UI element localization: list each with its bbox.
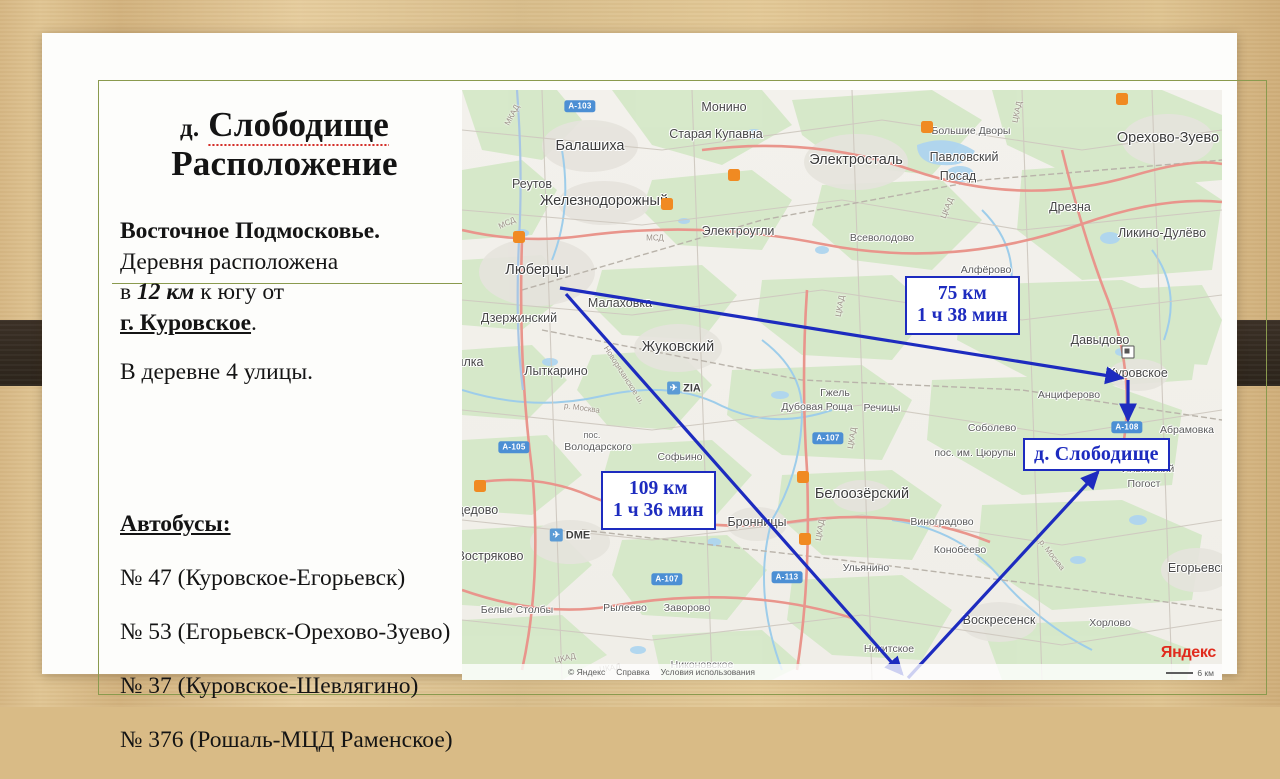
title-subject: Расположение [171,144,398,183]
callout-duration: 1 ч 36 мин [613,500,704,522]
paragraph-gap [120,338,455,357]
text-column: д. Слободище Расположение Восточное Подм… [112,93,457,693]
attrib-help-link[interactable]: Справка [616,667,649,677]
bus-routes-block: Автобусы: № 47 (Куровское-Егорьевск) № 5… [120,485,460,779]
body-text: Восточное Подмосковье. Деревня расположе… [120,216,455,388]
body-line-3-post: . [251,310,257,336]
callout-duration: 1 ч 38 мин [917,305,1008,327]
body-line-2: в 12 км к югу от [120,277,455,308]
callout-distance: 109 км [613,478,704,500]
body-line-3: г. Куровское. [120,308,455,339]
scale-bar-label: 6 км [1197,668,1214,678]
body-line-4: В деревне 4 улицы. [120,357,455,388]
bus-route-item: № 53 (Егорьевск-Орехово-Зуево) [120,617,460,648]
bus-route-item: № 37 (Куровское-Шевлягино) [120,671,460,702]
distance-emphasis: 12 км [137,279,194,305]
body-line-1: Деревня расположена [120,247,455,278]
body-line-2-post: к югу от [194,279,284,305]
title-village-name: Слободище [208,105,389,147]
title-prefix: д. [180,115,199,142]
map-image[interactable]: БалашихаРеутовЖелезнодорожныйМониноСтара… [462,90,1222,680]
yandex-logo-text: Яндекс [1161,644,1216,661]
route-callout-south: 109 км 1 ч 36 мин [601,471,716,530]
body-line-2-pre: в [120,279,137,305]
bus-routes-heading: Автобусы: [120,509,460,540]
map-attribution: © Яндекс Справка Условия использования [462,664,1222,680]
lead-paragraph: Восточное Подмосковье. [120,216,455,247]
town-link[interactable]: г. Куровское [120,310,251,336]
bus-route-item: № 376 (Рошаль-МЦД Раменское) [120,725,460,756]
attrib-copyright: © Яндекс [568,667,605,677]
route-arrows [462,90,1222,680]
bus-route-item: № 47 (Куровское-Егорьевск) [120,563,460,594]
slide-card: д. Слободище Расположение Восточное Подм… [42,33,1237,674]
scale-bar-line [1166,672,1193,674]
attrib-terms-link[interactable]: Условия использования [661,667,755,677]
callout-distance: 75 км [917,283,1008,305]
map-scale-bar: 6 км [1166,668,1214,678]
page-title: д. Слободище Расположение [112,105,457,183]
yandex-logo[interactable]: Яндекс [1161,644,1216,662]
village-label-callout: д. Слободище [1023,438,1170,471]
route-callout-north: 75 км 1 ч 38 мин [905,276,1020,335]
